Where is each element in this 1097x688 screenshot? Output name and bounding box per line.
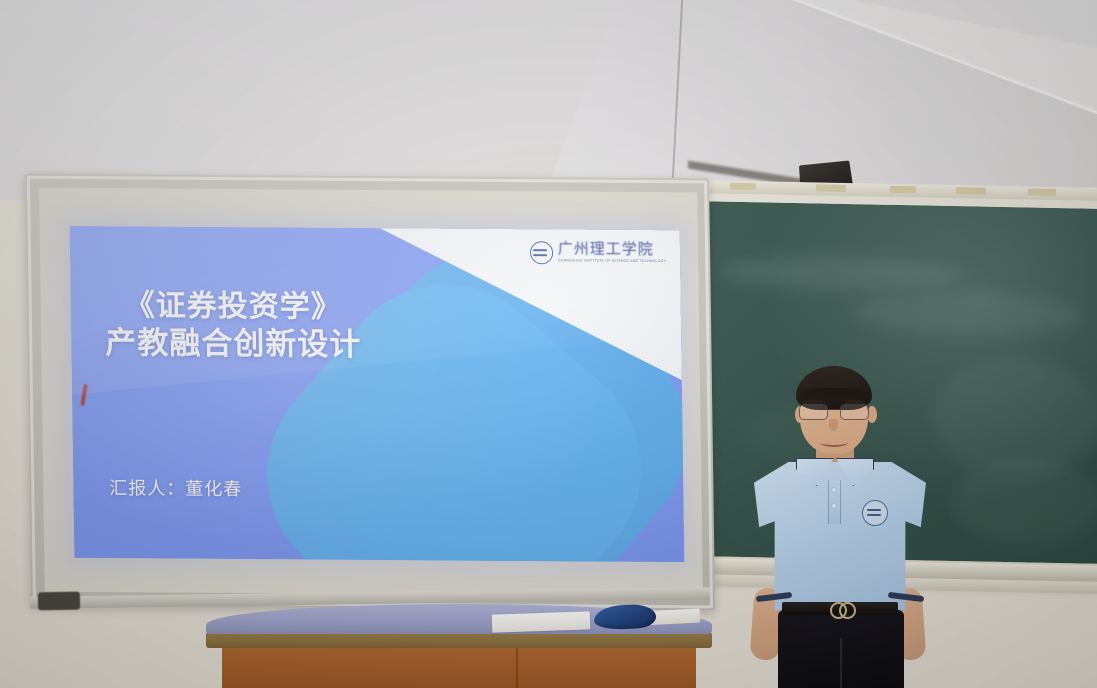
shirt-button bbox=[832, 488, 836, 492]
chalk-smudge bbox=[952, 456, 1097, 549]
trouser-seam bbox=[840, 638, 842, 688]
chalk-smudge bbox=[852, 288, 1082, 338]
projection-whiteboard: 广州理工学院 GUANGZHOU INSTITUTE OF SCIENCE AN… bbox=[25, 174, 715, 611]
slide-title-line-2: 产教融合创新设计 bbox=[105, 326, 362, 364]
classroom-photo: 广州理工学院 GUANGZHOU INSTITUTE OF SCIENCE AN… bbox=[0, 0, 1097, 688]
projected-slide: 广州理工学院 GUANGZHOU INSTITUTE OF SCIENCE AN… bbox=[70, 226, 685, 562]
shirt-placket bbox=[828, 480, 841, 524]
paper-sheet bbox=[492, 611, 591, 632]
lens-right bbox=[840, 404, 869, 420]
slide-canvas: 广州理工学院 GUANGZHOU INSTITUTE OF SCIENCE AN… bbox=[70, 226, 685, 562]
slide-title-line-1: 《证券投资学》 bbox=[105, 288, 362, 325]
whiteboard-wall-mount bbox=[38, 592, 80, 611]
university-logo-text: 广州理工学院 GUANGZHOU INSTITUTE OF SCIENCE AN… bbox=[558, 243, 667, 264]
lectern-body bbox=[222, 644, 696, 688]
university-logo: 广州理工学院 GUANGZHOU INSTITUTE OF SCIENCE AN… bbox=[530, 241, 667, 265]
slide-title-block: 《证券投资学》 产教融合创新设计 bbox=[105, 288, 362, 364]
slide-presenter-line: 汇报人：董化春 bbox=[109, 474, 242, 501]
university-seal-icon bbox=[530, 241, 553, 264]
belt-buckle-icon bbox=[830, 601, 860, 616]
chalk-smudge bbox=[722, 254, 962, 293]
eyeglasses-icon bbox=[799, 404, 869, 419]
nose bbox=[829, 419, 838, 431]
university-name-en: GUANGZHOU INSTITUTE OF SCIENCE AND TECHN… bbox=[558, 260, 666, 264]
university-name-cn: 广州理工学院 bbox=[558, 243, 666, 259]
tape-mark bbox=[890, 186, 916, 193]
shirt-button bbox=[832, 504, 836, 508]
chest-logo-patch-icon bbox=[862, 500, 888, 526]
tape-mark bbox=[956, 187, 986, 195]
tape-mark bbox=[730, 183, 756, 190]
wooden-lectern bbox=[206, 604, 712, 688]
tape-mark bbox=[816, 184, 846, 192]
lens-left bbox=[799, 404, 828, 420]
tape-mark bbox=[1028, 188, 1056, 196]
whiteboard-surface: 广州理工学院 GUANGZHOU INSTITUTE OF SCIENCE AN… bbox=[39, 188, 703, 597]
mouth bbox=[820, 438, 848, 447]
presenter-person bbox=[744, 362, 934, 688]
